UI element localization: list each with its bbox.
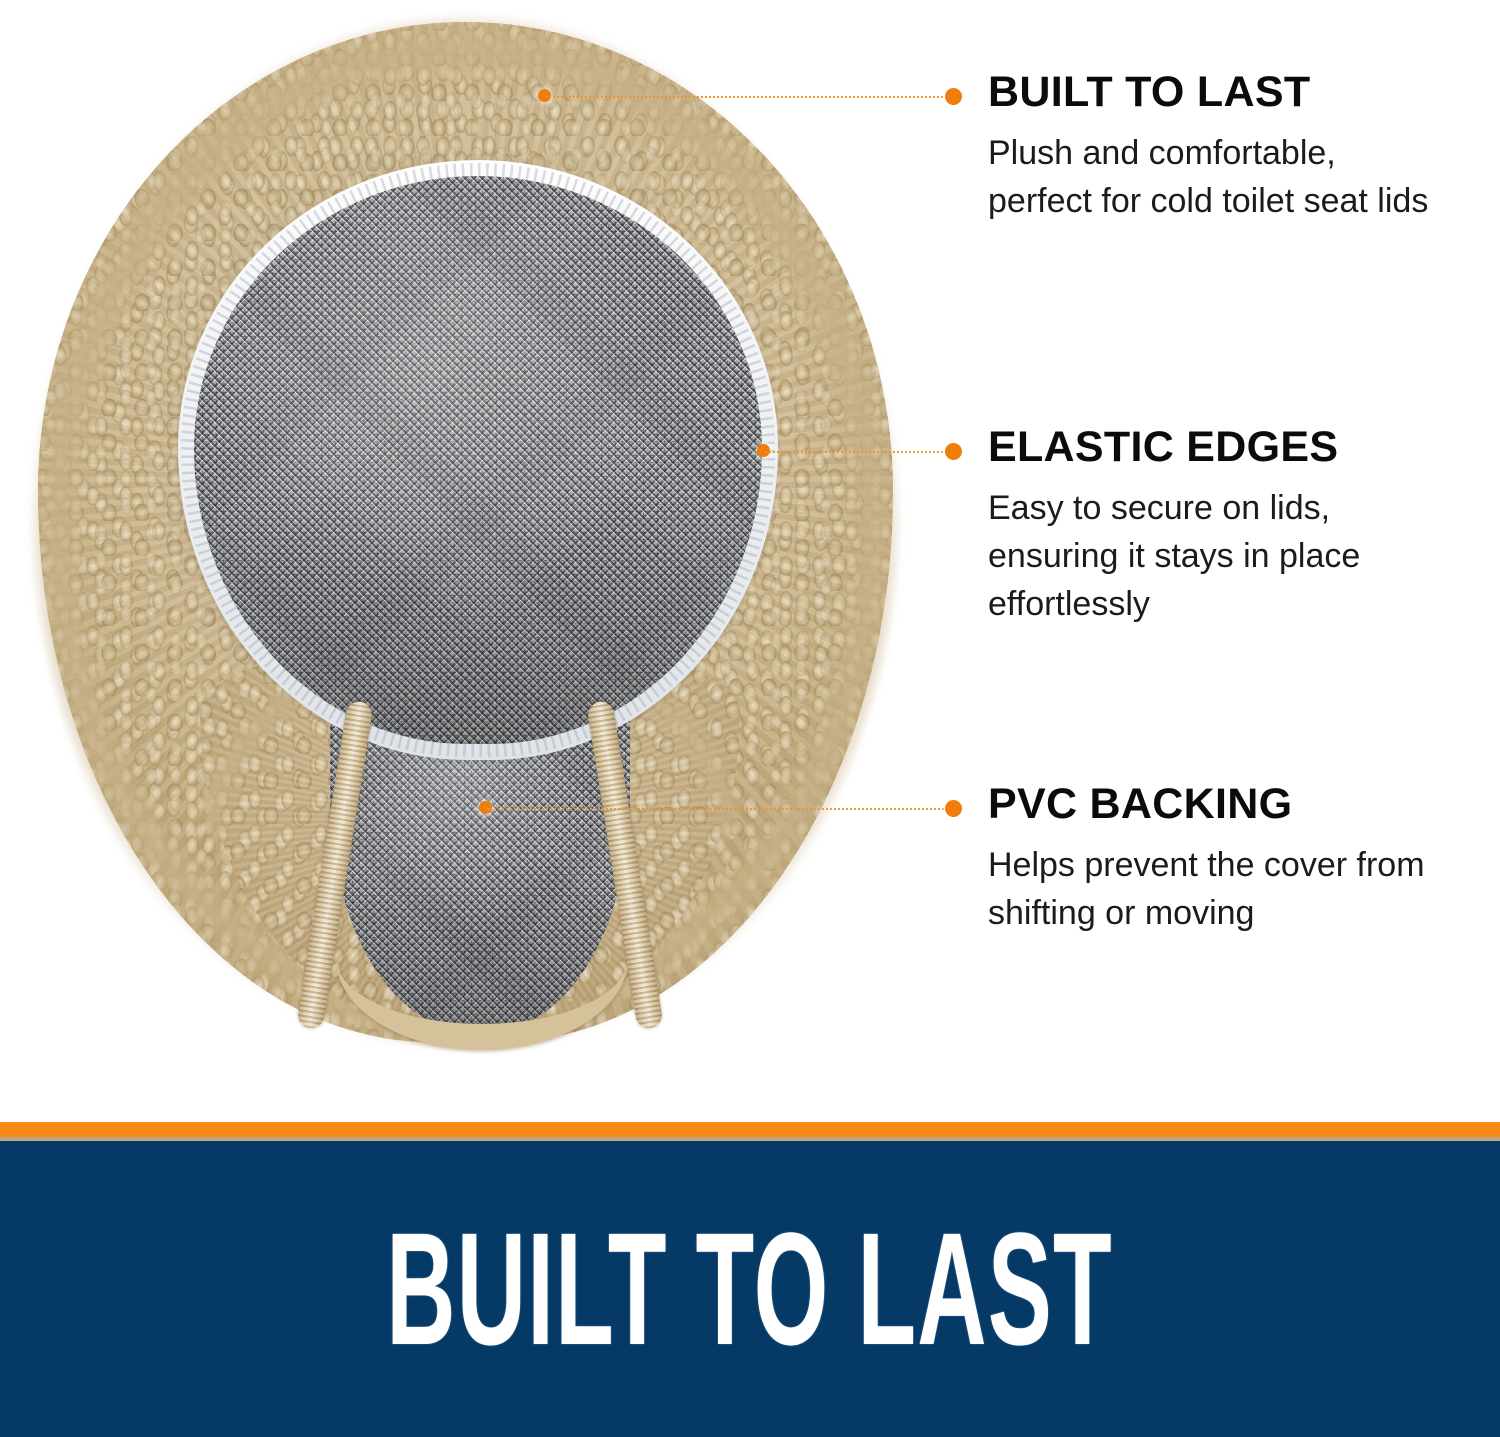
- callout-title-built-to-last: BUILT TO LAST: [988, 70, 1448, 115]
- callout-title-elastic-edges: ELASTIC EDGES: [988, 425, 1448, 470]
- callout-marker-1: [945, 88, 962, 105]
- callout-body-elastic-edges: Easy to secure on lids, ensuring it stay…: [988, 484, 1448, 629]
- leader-line-elastic-edges: [765, 451, 955, 453]
- banner-navy-area: BUILT TO LAST: [0, 1141, 1500, 1437]
- banner-headline: BUILT TO LAST: [387, 1209, 1114, 1369]
- pvc-mesh-center: [194, 176, 762, 744]
- infographic-page: BUILT TO LAST Plush and comfortable, per…: [0, 0, 1500, 1437]
- callout-built-to-last: BUILT TO LAST Plush and comfortable, per…: [988, 70, 1448, 225]
- pvc-mesh-shading: [194, 176, 762, 744]
- callout-elastic-edges: ELASTIC EDGES Easy to secure on lids, en…: [988, 425, 1448, 629]
- leader-line-pvc-backing: [487, 808, 955, 810]
- elastic-notch-binding: [300, 690, 660, 1050]
- elastic-band-bottom: [336, 958, 628, 1050]
- bottom-banner: BUILT TO LAST: [0, 1118, 1500, 1437]
- banner-orange-stripe: [0, 1122, 1500, 1137]
- leader-line-built-to-last: [546, 96, 954, 98]
- callout-pvc-backing: PVC BACKING Helps prevent the cover from…: [988, 782, 1448, 937]
- callout-body-built-to-last: Plush and comfortable, perfect for cold …: [988, 129, 1448, 226]
- callout-body-pvc-backing: Helps prevent the cover from shifting or…: [988, 841, 1448, 938]
- callout-title-pvc-backing: PVC BACKING: [988, 782, 1448, 827]
- callout-marker-3: [945, 800, 962, 817]
- product-photo: [0, 0, 945, 1100]
- callout-marker-2: [945, 443, 962, 460]
